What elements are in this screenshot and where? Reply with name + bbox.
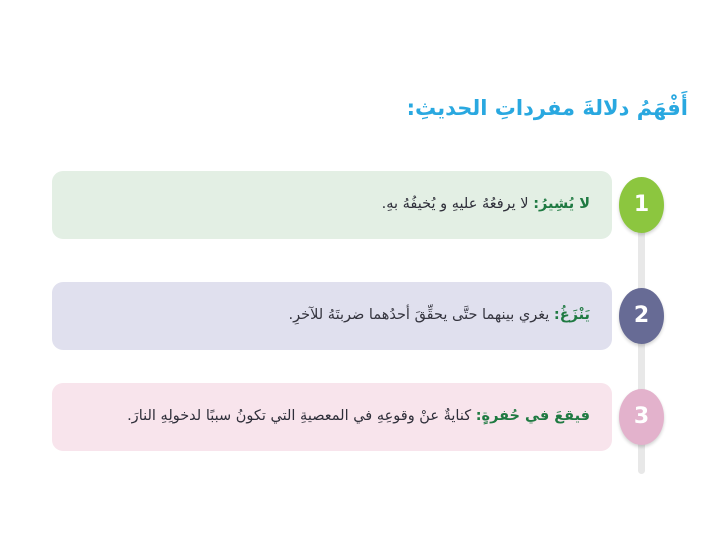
list-item: فيقعَ في حُفرةٍ: كنايةٌ عنْ وقوعِهِ في ا…	[52, 383, 612, 451]
vocabulary-gloss-2: يغري بينهما حتَّى يحقِّقَ أحدُهما ضربتَه…	[289, 307, 554, 323]
vocabulary-entry-3: فيقعَ في حُفرةٍ: كنايةٌ عنْ وقوعِهِ في ا…	[127, 406, 590, 428]
step-badge-3: 3	[619, 389, 664, 445]
step-badge-1-number: 1	[634, 194, 649, 216]
step-badge-3-number: 3	[634, 406, 649, 428]
step-badge-2-number: 2	[634, 305, 649, 327]
step-badge-1: 1	[619, 177, 664, 233]
vocabulary-term-2: يَنْزَغُ:	[554, 307, 590, 323]
vocabulary-entry-2: يَنْزَغُ: يغري بينهما حتَّى يحقِّقَ أحدُ…	[289, 305, 590, 327]
vocabulary-gloss-3: كنايةٌ عنْ وقوعِهِ في المعصيةِ التي تكون…	[127, 408, 476, 424]
vocabulary-list: لا يُشِيرُ: لا يرفعُهُ عليهِ و يُخيفُهُ …	[0, 0, 720, 540]
slide-canvas: أَفْهَمُ دلالةَ مفرداتِ الحديثِ: لا يُشِ…	[0, 0, 720, 540]
vocabulary-entry-1: لا يُشِيرُ: لا يرفعُهُ عليهِ و يُخيفُهُ …	[382, 194, 590, 216]
list-item: لا يُشِيرُ: لا يرفعُهُ عليهِ و يُخيفُهُ …	[52, 171, 612, 239]
list-item: يَنْزَغُ: يغري بينهما حتَّى يحقِّقَ أحدُ…	[52, 282, 612, 350]
step-badge-2: 2	[619, 288, 664, 344]
vocabulary-term-3: فيقعَ في حُفرةٍ:	[476, 408, 590, 424]
vocabulary-gloss-1: لا يرفعُهُ عليهِ و يُخيفُهُ بهِ.	[382, 196, 534, 212]
vocabulary-term-1: لا يُشِيرُ:	[533, 196, 590, 212]
